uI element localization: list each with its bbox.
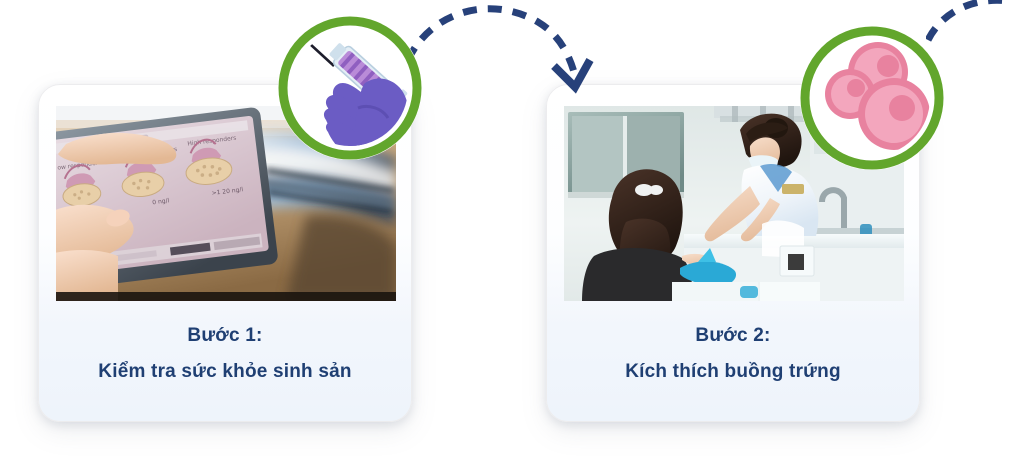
egg-cells-icon — [794, 22, 946, 174]
step-2-caption: Bước 2: Kích thích buồng trứng — [547, 321, 919, 387]
step-1-label-line1: Bước 1: — [39, 321, 411, 351]
step-2-badge[interactable] — [794, 22, 946, 174]
diagram-canvas: ow responders Normal responders High res… — [0, 0, 1009, 467]
step-1-caption: Bước 1: Kiểm tra sức khỏe sinh sản — [39, 321, 411, 387]
step-1-label-line2: Kiểm tra sức khỏe sinh sản — [39, 357, 411, 387]
syringe-gloved-hand-icon — [272, 12, 424, 164]
step-2-label-line2: Kích thích buồng trứng — [547, 357, 919, 387]
step-2-label-line1: Bước 2: — [547, 321, 919, 351]
step-1-badge[interactable] — [272, 12, 424, 164]
